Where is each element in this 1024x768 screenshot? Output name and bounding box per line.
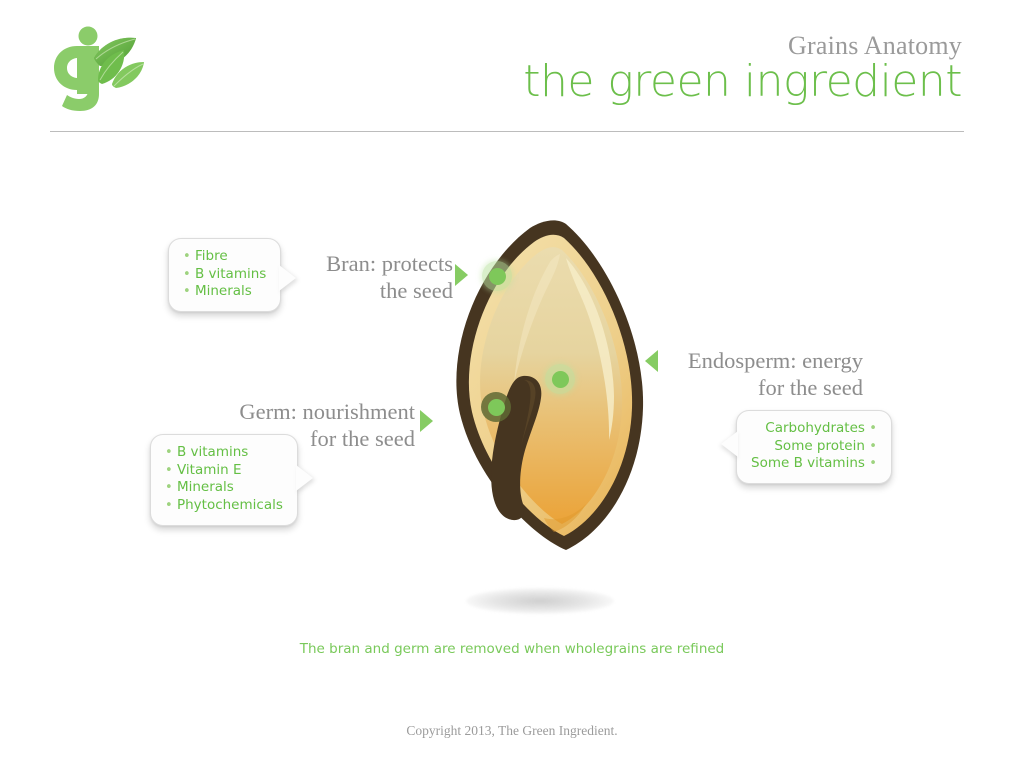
bran-callout: • Fibre • B vitamins • Minerals: [168, 238, 281, 312]
marker-core: [488, 399, 505, 416]
endosperm-label-line1: Endosperm: energy: [663, 347, 863, 374]
endosperm-pointer-triangle-icon: [645, 350, 658, 372]
grain-ground-shadow: [466, 588, 614, 614]
bullet-icon: •: [869, 456, 877, 471]
list-item-label: B vitamins: [195, 266, 266, 282]
header-kicker: Grains Anatomy: [523, 32, 962, 59]
callout-tail: [296, 465, 313, 491]
bullet-icon: •: [165, 480, 173, 495]
bran-label-line2: the seed: [288, 277, 453, 304]
endosperm-marker-dot: [545, 364, 575, 394]
marker-core: [489, 268, 506, 285]
list-item-label: Minerals: [177, 479, 234, 495]
footnote: The bran and germ are removed when whole…: [0, 641, 1024, 657]
list-item-label: Minerals: [195, 283, 252, 299]
bullet-icon: •: [183, 267, 191, 282]
list-item: • Minerals: [183, 283, 266, 301]
list-item: Some B vitamins •: [751, 455, 877, 473]
germ-pointer-triangle-icon: [420, 410, 433, 432]
germ-callout: • B vitamins • Vitamin E • Minerals • Ph…: [150, 434, 298, 526]
callout-tail: [279, 265, 296, 291]
list-item: • B vitamins: [165, 444, 283, 462]
logo: [44, 18, 164, 113]
endosperm-nutrient-list: Carbohydrates • Some protein • Some B vi…: [751, 420, 877, 473]
list-item-label: Vitamin E: [177, 462, 242, 478]
germ-label-line1: Germ: nourishment: [205, 398, 415, 425]
bullet-icon: •: [165, 498, 173, 513]
header: Grains Anatomy the green ingredient: [523, 32, 962, 107]
bullet-icon: •: [869, 439, 877, 454]
page-title: the green ingredient: [523, 57, 962, 106]
list-item: • Fibre: [183, 248, 266, 266]
logo-letter-g: [54, 27, 99, 112]
list-item: • Phytochemicals: [165, 497, 283, 515]
callout-tail: [721, 431, 738, 457]
bullet-icon: •: [165, 463, 173, 478]
bran-label-line1: Bran: protects: [288, 250, 453, 277]
list-item-label: Carbohydrates: [765, 420, 865, 436]
bran-marker-dot: [482, 261, 512, 291]
list-item-label: B vitamins: [177, 444, 248, 460]
header-divider: [50, 131, 964, 132]
endosperm-label-line2: for the seed: [663, 374, 863, 401]
bran-pointer-triangle-icon: [455, 264, 468, 286]
list-item: • Vitamin E: [165, 462, 283, 480]
list-item-label: Some protein: [774, 438, 865, 454]
leaf-icon: [94, 38, 144, 88]
endosperm-callout: Carbohydrates • Some protein • Some B vi…: [736, 410, 892, 484]
list-item: Carbohydrates •: [751, 420, 877, 438]
list-item-label: Fibre: [195, 248, 228, 264]
bullet-icon: •: [183, 249, 191, 264]
bran-label: Bran: protects the seed: [288, 250, 453, 305]
endosperm-label: Endosperm: energy for the seed: [663, 347, 863, 402]
germ-nutrient-list: • B vitamins • Vitamin E • Minerals • Ph…: [165, 444, 283, 515]
bullet-icon: •: [869, 421, 877, 436]
list-item: • Minerals: [165, 479, 283, 497]
bullet-icon: •: [165, 445, 173, 460]
list-item: • B vitamins: [183, 266, 266, 284]
list-item: Some protein •: [751, 438, 877, 456]
list-item-label: Some B vitamins: [751, 455, 865, 471]
bullet-icon: •: [183, 284, 191, 299]
infographic-page: Grains Anatomy the green ingredient: [0, 0, 1024, 768]
bran-nutrient-list: • Fibre • B vitamins • Minerals: [183, 248, 266, 301]
copyright: Copyright 2013, The Green Ingredient.: [0, 723, 1024, 739]
germ-marker-dot: [481, 392, 511, 422]
marker-core: [552, 371, 569, 388]
list-item-label: Phytochemicals: [177, 497, 283, 513]
